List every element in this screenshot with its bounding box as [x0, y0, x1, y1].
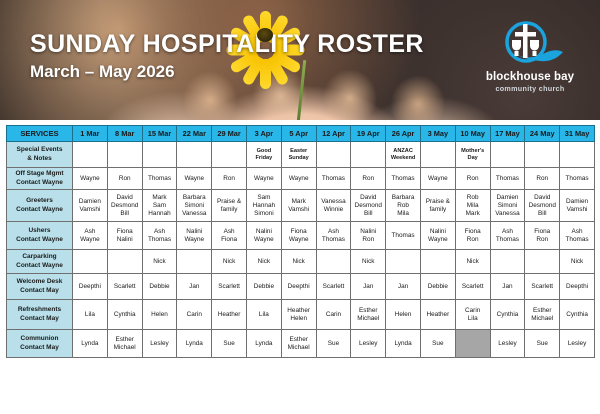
- service-label-line2: Contact Wayne: [7, 179, 72, 187]
- roster-table: SERVICES 1 Mar8 Mar15 Mar22 Mar29 Mar3 A…: [6, 125, 595, 358]
- column-header-date: 10 May: [455, 126, 490, 142]
- roster-cell[interactable]: Deepthi: [281, 274, 316, 300]
- roster-cell[interactable]: Lesley: [351, 330, 386, 358]
- roster-cell[interactable]: [316, 250, 351, 274]
- service-label-line1: Welcome Desk: [7, 278, 72, 286]
- roster-cell[interactable]: Wayne: [281, 168, 316, 190]
- service-label-line1: Communion: [7, 335, 72, 343]
- roster-cell[interactable]: [107, 142, 142, 168]
- roster-cell[interactable]: Nick: [560, 250, 595, 274]
- roster-cell[interactable]: Thomas: [386, 222, 421, 250]
- roster-cell[interactable]: [177, 250, 212, 274]
- roster-cell[interactable]: EasterSunday: [281, 142, 316, 168]
- roster-cell[interactable]: Thomas: [142, 168, 177, 190]
- roster-cell[interactable]: [73, 250, 108, 274]
- column-header-date: 5 Apr: [281, 126, 316, 142]
- roster-cell[interactable]: Sue: [420, 330, 455, 358]
- roster-cell[interactable]: Scarlett: [316, 274, 351, 300]
- roster-cell[interactable]: SamHannahSimoni: [246, 190, 281, 222]
- roster-cell[interactable]: [73, 142, 108, 168]
- roster-cell[interactable]: Lesley: [490, 330, 525, 358]
- logo-name: blockhouse bay: [482, 71, 578, 83]
- column-header-date: 31 May: [560, 126, 595, 142]
- roster-cell[interactable]: Wayne: [73, 168, 108, 190]
- roster-cell[interactable]: AshThomas: [142, 222, 177, 250]
- roster-cell-blocked: [455, 330, 490, 358]
- roster-cell[interactable]: Mother'sDay: [455, 142, 490, 168]
- roster-cell[interactable]: Carin: [316, 300, 351, 330]
- church-logo: blockhouse bay community church: [482, 18, 578, 93]
- roster-cell[interactable]: Lesley: [560, 330, 595, 358]
- roster-cell[interactable]: [351, 142, 386, 168]
- roster-cell[interactable]: Wayne: [177, 168, 212, 190]
- roster-cell[interactable]: RobMilaMark: [455, 190, 490, 222]
- roster-cell[interactable]: EstherMichael: [107, 330, 142, 358]
- roster-cell[interactable]: [177, 142, 212, 168]
- roster-cell[interactable]: Lynda: [177, 330, 212, 358]
- roster-cell[interactable]: Sue: [212, 330, 247, 358]
- roster-cell[interactable]: Sue: [525, 330, 560, 358]
- service-label-line2: Contact May: [7, 315, 72, 323]
- roster-cell[interactable]: AshThomas: [316, 222, 351, 250]
- column-header-date: 17 May: [490, 126, 525, 142]
- service-label-line1: Special Events: [7, 146, 72, 154]
- service-label-line2: Contact May: [7, 344, 72, 352]
- service-label-line1: Carparking: [7, 253, 72, 261]
- service-label-line2: Contact Wayne: [7, 206, 72, 214]
- roster-cell[interactable]: Debbie: [246, 274, 281, 300]
- roster-cell[interactable]: Ron: [525, 168, 560, 190]
- column-header-date: 3 Apr: [246, 126, 281, 142]
- roster-cell[interactable]: Helen: [386, 300, 421, 330]
- column-header-date: 15 Mar: [142, 126, 177, 142]
- roster-cell[interactable]: NaliniWayne: [420, 222, 455, 250]
- header-banner: SUNDAY HOSPITALITY ROSTER March – May 20…: [0, 0, 600, 120]
- roster-cell[interactable]: Ron: [107, 168, 142, 190]
- roster-table-wrap: SERVICES 1 Mar8 Mar15 Mar22 Mar29 Mar3 A…: [0, 120, 600, 364]
- roster-cell[interactable]: Cynthia: [107, 300, 142, 330]
- roster-cell[interactable]: Sue: [316, 330, 351, 358]
- roster-cell[interactable]: GoodFriday: [246, 142, 281, 168]
- roster-cell[interactable]: Nick: [246, 250, 281, 274]
- service-label-line2: Contact Wayne: [7, 236, 72, 244]
- page-title: SUNDAY HOSPITALITY ROSTER: [30, 30, 424, 59]
- logo-subtitle: community church: [482, 84, 578, 93]
- roster-cell[interactable]: EstherMichael: [351, 300, 386, 330]
- service-label-line1: Ushers: [7, 227, 72, 235]
- roster-cell[interactable]: AshFiona: [212, 222, 247, 250]
- roster-cell[interactable]: Praise &family: [212, 190, 247, 222]
- page-subtitle: March – May 2026: [30, 62, 175, 82]
- roster-cell[interactable]: Debbie: [142, 274, 177, 300]
- roster-cell[interactable]: Ron: [212, 168, 247, 190]
- roster-cell[interactable]: Nick: [212, 250, 247, 274]
- column-header-date: 8 Mar: [107, 126, 142, 142]
- roster-cell[interactable]: MarkSamHannah: [142, 190, 177, 222]
- table-row: UshersContact WayneAshWayneFionaNaliniAs…: [7, 222, 595, 250]
- roster-cell[interactable]: AshThomas: [560, 222, 595, 250]
- roster-cell[interactable]: [142, 142, 177, 168]
- table-row: RefreshmentsContact MayLilaCynthiaHelenC…: [7, 300, 595, 330]
- roster-cell[interactable]: AshWayne: [73, 222, 108, 250]
- roster-cell[interactable]: FionaWayne: [281, 222, 316, 250]
- roster-cell[interactable]: [420, 250, 455, 274]
- roster-cell[interactable]: Heather: [420, 300, 455, 330]
- roster-cell[interactable]: DavidDesmondBill: [107, 190, 142, 222]
- roster-cell[interactable]: Carin: [177, 300, 212, 330]
- service-label-line1: Refreshments: [7, 306, 72, 314]
- column-header-date: 24 May: [525, 126, 560, 142]
- roster-cell[interactable]: VanessaWinnie: [316, 190, 351, 222]
- table-row: CarparkingContact WayneNickNickNickNickN…: [7, 250, 595, 274]
- roster-cell[interactable]: Jan: [351, 274, 386, 300]
- roster-cell[interactable]: FionaNalini: [107, 222, 142, 250]
- roster-cell[interactable]: [490, 250, 525, 274]
- service-label: CarparkingContact Wayne: [7, 250, 73, 274]
- roster-cell[interactable]: FionaRon: [455, 222, 490, 250]
- table-row: Welcome DeskContact MayDeepthiScarlettDe…: [7, 274, 595, 300]
- roster-page: SUNDAY HOSPITALITY ROSTER March – May 20…: [0, 0, 600, 414]
- column-header-services: SERVICES: [7, 126, 73, 142]
- column-header-date: 29 Mar: [212, 126, 247, 142]
- service-label-line2: Contact Wayne: [7, 262, 72, 270]
- roster-cell[interactable]: HeatherHelen: [281, 300, 316, 330]
- service-label: Welcome DeskContact May: [7, 274, 73, 300]
- roster-cell[interactable]: CarinLila: [455, 300, 490, 330]
- column-header-date: 1 Mar: [73, 126, 108, 142]
- roster-cell[interactable]: Lynda: [73, 330, 108, 358]
- roster-cell[interactable]: Scarlett: [455, 274, 490, 300]
- hands-photo-detail: [170, 60, 470, 120]
- roster-cell[interactable]: BarbaraSimoniVanessa: [177, 190, 212, 222]
- roster-cell[interactable]: Nick: [142, 250, 177, 274]
- column-header-date: 22 Mar: [177, 126, 212, 142]
- roster-cell[interactable]: [525, 142, 560, 168]
- roster-cell[interactable]: BarbaraRobMila: [386, 190, 421, 222]
- roster-cell[interactable]: DamienVamshi: [73, 190, 108, 222]
- roster-cell[interactable]: Ron: [455, 168, 490, 190]
- column-header-date: 19 Apr: [351, 126, 386, 142]
- roster-cell[interactable]: DavidDesmondBill: [525, 190, 560, 222]
- service-label: RefreshmentsContact May: [7, 300, 73, 330]
- roster-cell[interactable]: Heather: [212, 300, 247, 330]
- church-logo-icon: [482, 18, 578, 70]
- roster-cell[interactable]: Scarlett: [107, 274, 142, 300]
- roster-cell[interactable]: Scarlett: [212, 274, 247, 300]
- roster-cell[interactable]: Nick: [281, 250, 316, 274]
- table-row: Special Events& NotesGoodFridayEasterSun…: [7, 142, 595, 168]
- roster-cell[interactable]: Praise &family: [420, 190, 455, 222]
- roster-cell[interactable]: Lynda: [246, 330, 281, 358]
- roster-cell[interactable]: [420, 142, 455, 168]
- roster-cell[interactable]: NaliniWayne: [246, 222, 281, 250]
- roster-cell[interactable]: EstherMichael: [525, 300, 560, 330]
- roster-cell[interactable]: Wayne: [420, 168, 455, 190]
- roster-cell[interactable]: [107, 250, 142, 274]
- roster-cell[interactable]: Scarlett: [525, 274, 560, 300]
- roster-cell[interactable]: [525, 250, 560, 274]
- table-row: GreetersContact WayneDamienVamshiDavidDe…: [7, 190, 595, 222]
- table-row: Off Stage MgmtContact WayneWayneRonThoma…: [7, 168, 595, 190]
- roster-cell[interactable]: Deepthi: [560, 274, 595, 300]
- roster-cell[interactable]: Ron: [351, 168, 386, 190]
- roster-cell[interactable]: Debbie: [420, 274, 455, 300]
- roster-cell[interactable]: MarkVamshi: [281, 190, 316, 222]
- roster-cell[interactable]: NaliniWayne: [177, 222, 212, 250]
- service-label: Special Events& Notes: [7, 142, 73, 168]
- roster-cell[interactable]: Wayne: [246, 168, 281, 190]
- roster-cell[interactable]: Nick: [351, 250, 386, 274]
- flower-center-icon: [257, 28, 273, 42]
- service-label-line2: Contact May: [7, 287, 72, 295]
- service-label-line1: Off Stage Mgmt: [7, 170, 72, 178]
- roster-cell[interactable]: [490, 142, 525, 168]
- service-label: GreetersContact Wayne: [7, 190, 73, 222]
- roster-cell[interactable]: Lila: [73, 300, 108, 330]
- service-label: Off Stage MgmtContact Wayne: [7, 168, 73, 190]
- column-header-date: 26 Apr: [386, 126, 421, 142]
- service-label-line2: & Notes: [7, 155, 72, 163]
- roster-cell[interactable]: Jan: [386, 274, 421, 300]
- roster-cell[interactable]: [212, 142, 247, 168]
- roster-cell[interactable]: DavidDesmondBill: [351, 190, 386, 222]
- roster-cell[interactable]: Jan: [490, 274, 525, 300]
- roster-cell[interactable]: Lesley: [142, 330, 177, 358]
- roster-cell[interactable]: Cynthia: [490, 300, 525, 330]
- roster-cell[interactable]: Thomas: [560, 168, 595, 190]
- roster-cell[interactable]: DamienVamshi: [560, 190, 595, 222]
- table-row: CommunionContact MayLyndaEstherMichaelLe…: [7, 330, 595, 358]
- table-header-row: SERVICES 1 Mar8 Mar15 Mar22 Mar29 Mar3 A…: [7, 126, 595, 142]
- roster-cell[interactable]: Lila: [246, 300, 281, 330]
- roster-cell[interactable]: AshThomas: [490, 222, 525, 250]
- roster-cell[interactable]: Cynthia: [560, 300, 595, 330]
- roster-cell[interactable]: ANZACWeekend: [386, 142, 421, 168]
- roster-cell[interactable]: [560, 142, 595, 168]
- roster-cell[interactable]: Thomas: [316, 168, 351, 190]
- roster-cell[interactable]: FionaRon: [525, 222, 560, 250]
- roster-cell[interactable]: Lynda: [386, 330, 421, 358]
- roster-cell[interactable]: Thomas: [386, 168, 421, 190]
- roster-cell[interactable]: Deepthi: [73, 274, 108, 300]
- roster-cell[interactable]: DamienSimoniVanessa: [490, 190, 525, 222]
- service-label: CommunionContact May: [7, 330, 73, 358]
- roster-cell[interactable]: Jan: [177, 274, 212, 300]
- roster-cell[interactable]: [386, 250, 421, 274]
- roster-cell[interactable]: Helen: [142, 300, 177, 330]
- roster-cell[interactable]: Thomas: [490, 168, 525, 190]
- roster-cell[interactable]: EstherMichael: [281, 330, 316, 358]
- service-label-line1: Greeters: [7, 197, 72, 205]
- roster-cell[interactable]: [316, 142, 351, 168]
- column-header-date: 12 Apr: [316, 126, 351, 142]
- service-label: UshersContact Wayne: [7, 222, 73, 250]
- column-header-date: 3 May: [420, 126, 455, 142]
- roster-cell[interactable]: Nick: [455, 250, 490, 274]
- roster-cell[interactable]: NaliniRon: [351, 222, 386, 250]
